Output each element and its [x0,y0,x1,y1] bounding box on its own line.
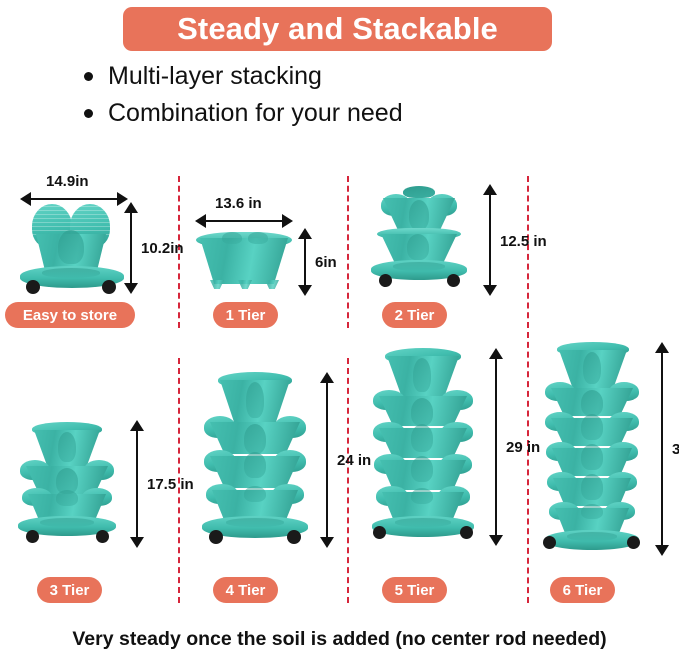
product-cell-1-tier: 13.6 in 6in 1 Tier [186,176,347,328]
product-badge-5-tier[interactable]: 5 Tier [382,577,447,603]
height-dimension-arrow [655,342,669,556]
list-item: Multi-layer stacking [84,60,604,92]
height-dimension-arrow [298,228,312,296]
caster-wheel-icon [96,530,109,543]
product-badge-label: 2 Tier [395,307,435,324]
product-cell-6-tier: 35 in 6 Tier [535,332,679,603]
caster-wheel-icon [26,530,39,543]
feature-bullet-list: Multi-layer stacking Combination for you… [84,60,604,134]
product-cell-3-tier: 17.5 in 3 Tier [0,410,178,603]
column-divider-2 [347,176,349,328]
height-dimension-label: 10.2in [141,240,184,257]
height-dimension-arrow [483,184,497,296]
product-badge-label: 5 Tier [395,582,435,599]
page-title: Steady and Stackable [177,11,498,47]
width-dimension-arrow [195,214,293,228]
bullet-text: Multi-layer stacking [108,64,322,89]
column-divider-3 [527,176,529,328]
product-badge-3-tier[interactable]: 3 Tier [37,577,102,603]
product-badge-label: 3 Tier [50,582,90,599]
page-title-badge: Steady and Stackable [123,7,552,51]
product-cell-easy-to-store: 14.9in 10.2in Easy to store [0,176,178,328]
height-dimension-label: 6in [315,254,337,271]
product-badge-2-tier[interactable]: 2 Tier [382,302,447,328]
bullet-dot-icon [84,72,93,81]
product-badge-label: 4 Tier [226,582,266,599]
product-cell-4-tier: 24 in 4 Tier [186,358,347,603]
product-badge-6-tier[interactable]: 6 Tier [550,577,615,603]
caster-wheel-icon [627,536,640,549]
width-dimension-label: 13.6 in [215,195,262,212]
product-image-6-tier [539,332,649,554]
bullet-dot-icon [84,109,93,118]
footer-caption: Very steady once the soil is added (no c… [0,628,679,651]
column-divider-6 [527,332,529,603]
product-badge-label: 1 Tier [226,307,266,324]
product-image-2-tier [365,176,475,298]
caster-wheel-icon [460,526,473,539]
product-cell-2-tier: 12.5 in 2 Tier [355,176,527,328]
product-badge-label: 6 Tier [563,582,603,599]
column-divider-5 [347,358,349,603]
caster-wheel-icon [379,274,392,287]
caster-wheel-icon [209,530,223,544]
height-dimension-arrow [489,348,503,546]
height-dimension-label: 12.5 in [500,233,547,250]
list-item: Combination for your need [84,97,604,129]
product-badge-1-tier[interactable]: 1 Tier [213,302,278,328]
product-image-5-tier [365,336,485,551]
product-badge-4-tier[interactable]: 4 Tier [213,577,278,603]
height-dimension-arrow [320,372,334,548]
caster-wheel-icon [287,530,301,544]
product-image-3-tier [14,410,124,550]
bullet-text: Combination for your need [108,101,403,126]
width-dimension-arrow [20,192,128,206]
product-image-4-tier [196,358,316,548]
caster-wheel-icon [26,280,40,294]
caster-wheel-icon [447,274,460,287]
height-dimension-arrow [124,202,138,294]
height-dimension-label: 35 in [672,441,679,458]
product-cell-5-tier: 29 in 5 Tier [355,336,527,603]
caster-wheel-icon [543,536,556,549]
product-badge-easy-to-store[interactable]: Easy to store [5,302,135,328]
caster-wheel-icon [102,280,116,294]
product-badge-label: Easy to store [23,307,117,324]
height-dimension-arrow [130,420,144,548]
caster-wheel-icon [373,526,386,539]
width-dimension-label: 14.9in [46,173,89,190]
